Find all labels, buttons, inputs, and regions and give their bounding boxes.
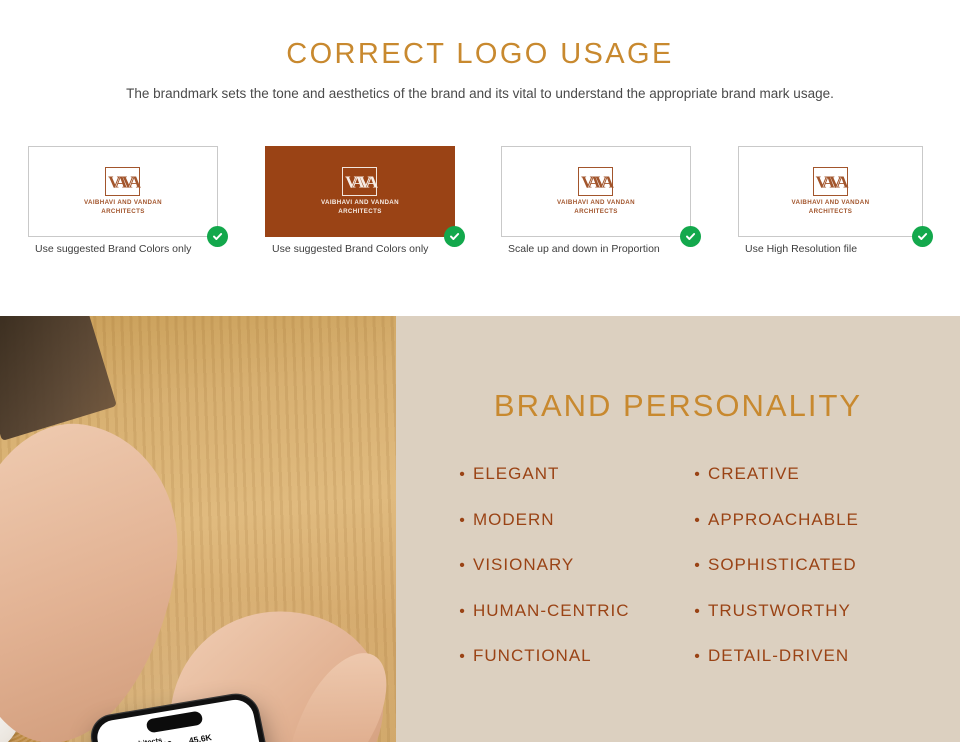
logo-lockup: VAVA VAIBHAVI AND VANDAN ARCHITECTS: [321, 167, 399, 216]
bullet-icon: •: [451, 558, 473, 574]
logo-lockup: VAVA VAIBHAVI AND VANDAN ARCHITECTS: [792, 167, 870, 216]
logo-card-caption: Use suggested Brand Colors only: [272, 243, 428, 255]
trait-label: ELEGANT: [473, 464, 559, 484]
stat-followers: 45.6K Followers: [188, 732, 214, 742]
trait-label: TRUSTWORTHY: [708, 601, 851, 621]
trait-label: VISIONARY: [473, 555, 574, 575]
check-circle-icon: [207, 226, 228, 247]
desk-object: [0, 316, 117, 441]
logo-card-1: VAVA VAIBHAVI AND VANDAN ARCHITECTS Use …: [28, 146, 218, 237]
logo-monogram-icon: VAVA: [578, 167, 613, 196]
logo-wordmark-line1: VAIBHAVI AND VANDAN: [321, 199, 399, 207]
brand-guideline-page: CORRECT LOGO USAGE The brandmark sets th…: [0, 0, 960, 742]
logo-lockup: VAVA VAIBHAVI AND VANDAN ARCHITECTS: [557, 167, 635, 216]
instagram-stats: 123 Posts 45.6K Followers: [157, 732, 214, 742]
trait-label: DETAIL-DRIVEN: [708, 646, 849, 666]
bullet-icon: •: [686, 558, 708, 574]
trait-item: • SOPHISTICATED: [686, 555, 956, 575]
bullet-icon: •: [451, 467, 473, 483]
instagram-handle: vandvarchitects: [106, 735, 163, 742]
correct-logo-usage-section: CORRECT LOGO USAGE The brandmark sets th…: [0, 0, 960, 316]
hand-left: [0, 410, 196, 742]
brand-personality-title: BRAND PERSONALITY: [396, 388, 960, 424]
logo-card-caption: Use suggested Brand Colors only: [35, 243, 191, 255]
brand-personality-section: vandvarchitects VAVA 123 Posts 45.6K: [0, 316, 960, 742]
page-subtitle: The brandmark sets the tone and aestheti…: [0, 84, 960, 103]
logo-card-3: VAVA VAIBHAVI AND VANDAN ARCHITECTS Scal…: [501, 146, 691, 237]
bullet-icon: •: [686, 604, 708, 620]
trait-item: • MODERN: [451, 510, 711, 530]
check-circle-icon: [680, 226, 701, 247]
logo-wordmark-line1: VAIBHAVI AND VANDAN: [557, 199, 635, 207]
logo-wordmark-line1: VAIBHAVI AND VANDAN: [84, 199, 162, 207]
brand-personality-panel: BRAND PERSONALITY • ELEGANT • MODERN • V…: [396, 316, 960, 742]
trait-item: • DETAIL-DRIVEN: [686, 646, 956, 666]
trait-label: FUNCTIONAL: [473, 646, 592, 666]
bullet-icon: •: [686, 513, 708, 529]
bullet-icon: •: [451, 649, 473, 665]
logo-wordmark-line2: ARCHITECTS: [321, 208, 399, 216]
trait-item: • CREATIVE: [686, 464, 956, 484]
logo-lockup: VAVA VAIBHAVI AND VANDAN ARCHITECTS: [84, 167, 162, 216]
logo-monogram-icon: VAVA: [105, 167, 140, 196]
trait-label: HUMAN-CENTRIC: [473, 601, 630, 621]
logo-wordmark-line2: ARCHITECTS: [557, 208, 635, 216]
logo-card-2: VAVA VAIBHAVI AND VANDAN ARCHITECTS Use …: [265, 146, 455, 237]
logo-card-caption: Scale up and down in Proportion: [508, 243, 660, 255]
trait-item: • HUMAN-CENTRIC: [451, 601, 711, 621]
trait-column-left: • ELEGANT • MODERN • VISIONARY • HUMAN-C…: [451, 464, 711, 692]
bullet-icon: •: [451, 604, 473, 620]
bullet-icon: •: [686, 467, 708, 483]
logo-card-frame: VAVA VAIBHAVI AND VANDAN ARCHITECTS: [738, 146, 923, 237]
logo-card-list: VAVA VAIBHAVI AND VANDAN ARCHITECTS Use …: [0, 146, 960, 256]
trait-item: • APPROACHABLE: [686, 510, 956, 530]
logo-card-frame: VAVA VAIBHAVI AND VANDAN ARCHITECTS: [265, 146, 455, 237]
logo-card-4: VAVA VAIBHAVI AND VANDAN ARCHITECTS Use …: [738, 146, 923, 237]
logo-wordmark-line2: ARCHITECTS: [84, 208, 162, 216]
trait-label: MODERN: [473, 510, 555, 530]
page-title: CORRECT LOGO USAGE: [0, 38, 960, 71]
trait-item: • FUNCTIONAL: [451, 646, 711, 666]
trait-item: • ELEGANT: [451, 464, 711, 484]
logo-wordmark-line2: ARCHITECTS: [792, 208, 870, 216]
logo-monogram-icon: VAVA: [342, 167, 377, 196]
check-circle-icon: [444, 226, 465, 247]
stat-followers-count: 45.6K: [188, 732, 213, 742]
phone-notch: [145, 710, 203, 733]
trait-label: CREATIVE: [708, 464, 800, 484]
trait-label: APPROACHABLE: [708, 510, 859, 530]
logo-card-frame: VAVA VAIBHAVI AND VANDAN ARCHITECTS: [501, 146, 691, 237]
logo-wordmark-line1: VAIBHAVI AND VANDAN: [792, 199, 870, 207]
logo-card-caption: Use High Resolution file: [745, 243, 857, 255]
bullet-icon: •: [686, 649, 708, 665]
logo-card-frame: VAVA VAIBHAVI AND VANDAN ARCHITECTS: [28, 146, 218, 237]
trait-item: • TRUSTWORTHY: [686, 601, 956, 621]
phone-photo: vandvarchitects VAVA 123 Posts 45.6K: [0, 316, 396, 742]
check-circle-icon: [912, 226, 933, 247]
trait-label: SOPHISTICATED: [708, 555, 857, 575]
trait-item: • VISIONARY: [451, 555, 711, 575]
bullet-icon: •: [451, 513, 473, 529]
trait-column-right: • CREATIVE • APPROACHABLE • SOPHISTICATE…: [686, 464, 956, 692]
logo-monogram-icon: VAVA: [813, 167, 848, 196]
